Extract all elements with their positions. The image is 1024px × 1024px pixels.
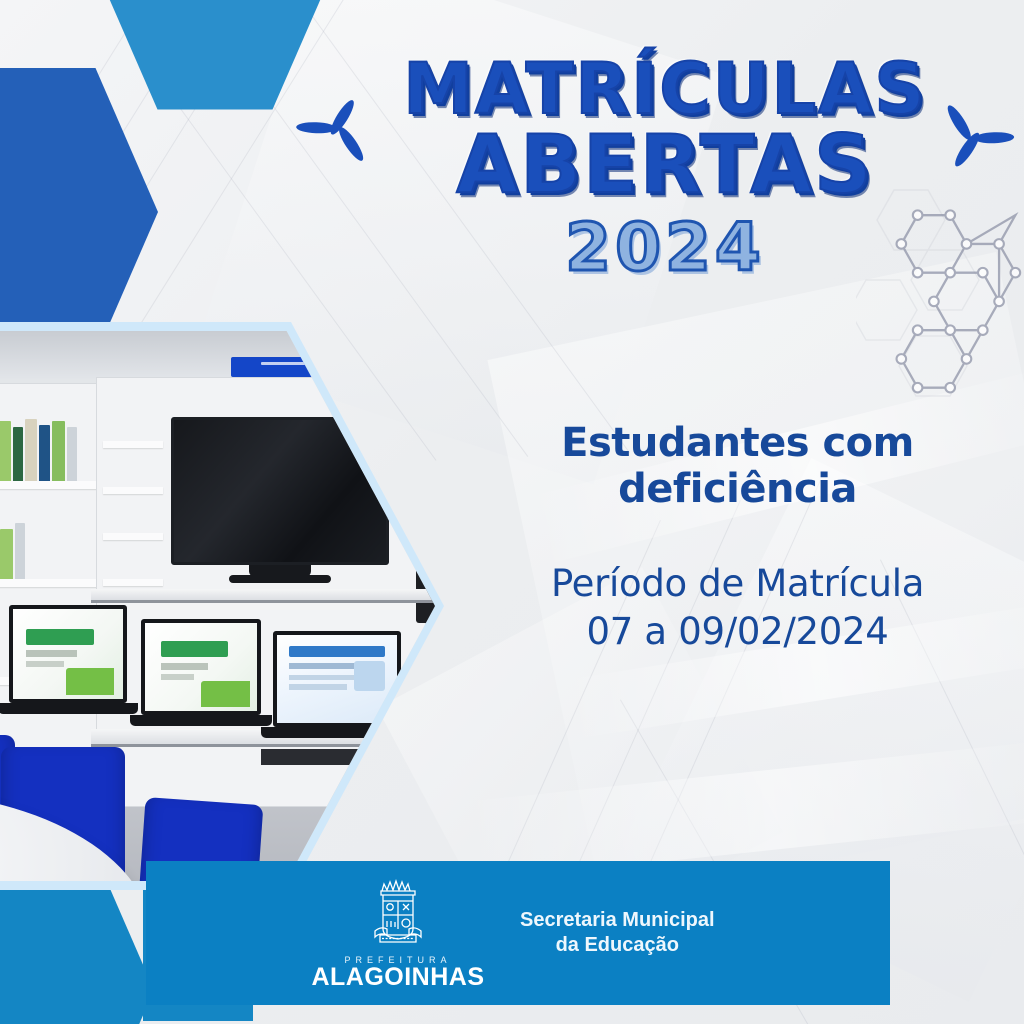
audience-title: Estudantes com deficiência — [455, 420, 1020, 512]
headline-block: MATRÍCULAS ABERTAS 2024 — [360, 56, 970, 286]
enrollment-period: Período de Matrícula 07 a 09/02/2024 — [455, 560, 1020, 656]
audience-title-line-2: deficiência — [455, 466, 1020, 512]
headline-line-2: ABERTAS — [360, 127, 970, 203]
wall-monitor — [171, 417, 389, 565]
hexagon-decor-top-left — [0, 62, 158, 362]
department-label: Secretaria Municipal da Educação — [520, 908, 715, 958]
prefeitura-brand: PREFEITURA ALAGOINHAS — [328, 877, 468, 990]
audience-title-line-1: Estudantes com — [455, 420, 1020, 466]
department-line-2: da Educação — [520, 933, 715, 958]
headline-line-1: MATRÍCULAS — [360, 56, 970, 123]
coat-of-arms-icon — [367, 877, 429, 951]
promo-poster: MATRÍCULAS ABERTAS 2024 Estudantes com d… — [0, 0, 1024, 1024]
enrollment-period-label: Período de Matrícula — [455, 560, 1020, 608]
footer-bar: PREFEITURA ALAGOINHAS Secretaria Municip… — [146, 861, 890, 1005]
enrollment-period-dates: 07 a 09/02/2024 — [455, 608, 1020, 656]
laptop — [9, 605, 127, 703]
headline-year: 2024 — [360, 209, 970, 286]
department-line-1: Secretaria Municipal — [520, 908, 715, 933]
copy-block: Estudantes com deficiência Período de Ma… — [455, 420, 1020, 656]
brand-name: ALAGOINHAS — [311, 965, 484, 990]
photo-hexagon — [0, 322, 444, 890]
photo-library-computer-lab — [0, 331, 435, 881]
laptop — [141, 619, 261, 715]
